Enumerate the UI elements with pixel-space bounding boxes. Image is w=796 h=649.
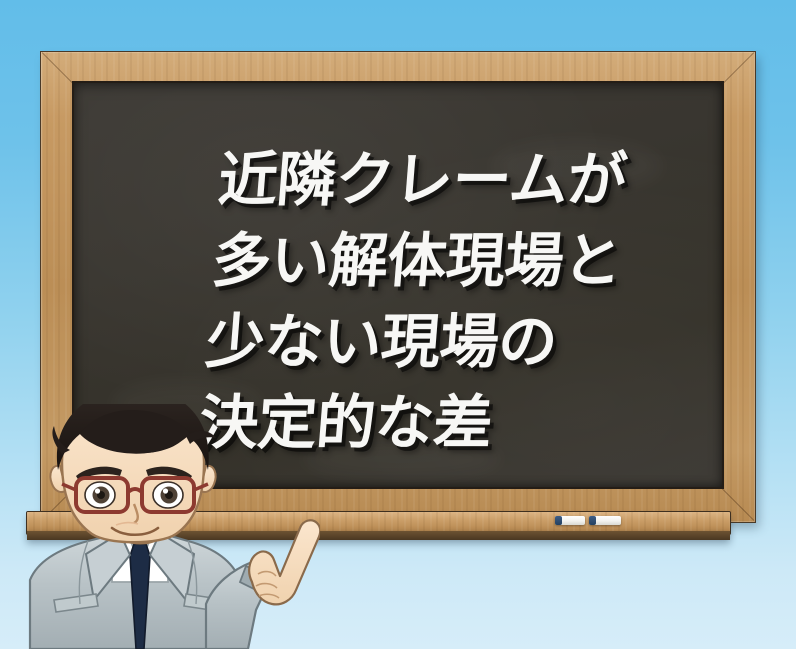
chalk-stick-right: [589, 516, 621, 525]
thumbnail-canvas: 近隣クレームが 多い解体現場と 少ない現場の 決定的な差: [0, 0, 796, 649]
headline-line-3: 少ない現場の: [203, 301, 729, 382]
chalk-cap-icon: [589, 516, 596, 525]
chalk-cap-icon: [555, 516, 562, 525]
headline-line-2: 多い解体現場と: [209, 220, 735, 301]
pointing-hand-icon: [249, 520, 320, 604]
chalk-stick-left: [555, 516, 585, 525]
headline-line-1: 近隣クレームが: [215, 139, 741, 220]
instructor-pointing: smiling man with glasses in gray work ja…: [0, 404, 320, 649]
